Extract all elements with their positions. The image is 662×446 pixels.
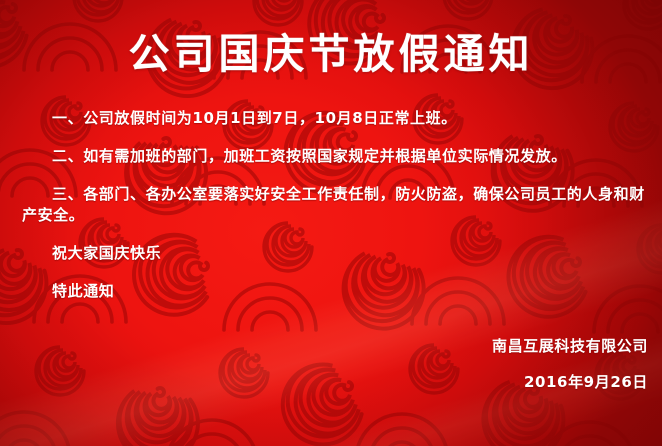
signature-date: 2016年9月26日	[492, 372, 648, 393]
signature-company-name: 南昌互展科技有限公司	[492, 336, 648, 357]
notice-body: 一、公司放假时间为10月1日到7日，10月8日正常上班。 二、如有需加班的部门，…	[22, 108, 648, 319]
signature-block: 南昌互展科技有限公司 2016年9月26日	[492, 336, 648, 393]
notice-closing: 特此通知	[22, 281, 648, 302]
notice-paragraph-3: 三、各部门、各办公室要落实好安全工作责任制，防火防盗，确保公司员工的人身和财产安…	[22, 184, 648, 226]
poster-content: 公司国庆节放假通知 一、公司放假时间为10月1日到7日，10月8日正常上班。 二…	[0, 0, 662, 446]
page-title: 公司国庆节放假通知	[0, 32, 662, 77]
notice-paragraph-2: 二、如有需加班的部门，加班工资按照国家规定并根据单位实际情况发放。	[22, 146, 648, 167]
notice-paragraph-1: 一、公司放假时间为10月1日到7日，10月8日正常上班。	[22, 108, 648, 129]
holiday-notice-poster: 公司国庆节放假通知 一、公司放假时间为10月1日到7日，10月8日正常上班。 二…	[0, 0, 662, 446]
notice-greeting: 祝大家国庆快乐	[22, 243, 648, 264]
